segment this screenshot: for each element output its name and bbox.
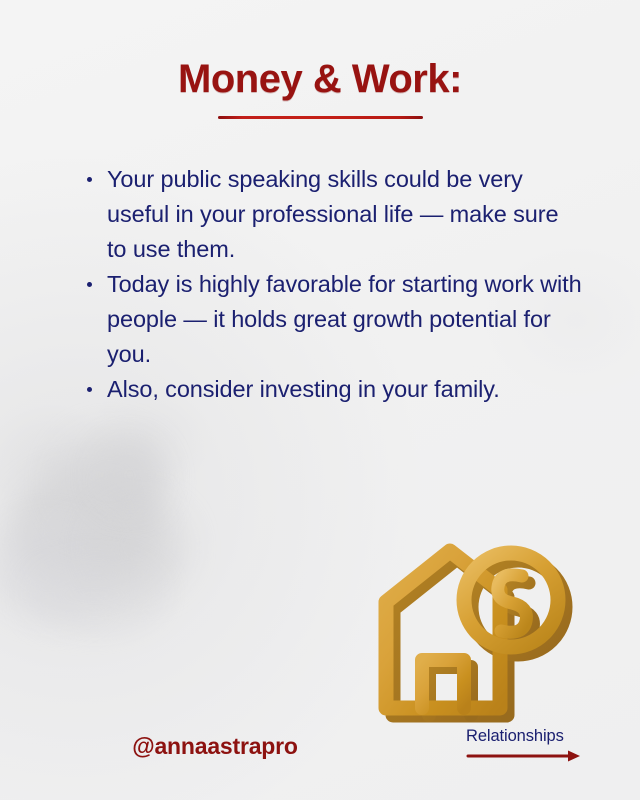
bullet-list: Your public speaking skills could be ver… (84, 162, 584, 407)
post-card: Money & Work: Your public speaking skill… (0, 0, 640, 800)
list-item: Your public speaking skills could be ver… (84, 162, 584, 267)
watercolor-smudge (55, 430, 165, 535)
title-underline-rule (218, 116, 423, 119)
watercolor-smudge (90, 500, 190, 595)
bullet-dot-icon (87, 177, 92, 182)
page-title: Money & Work: (0, 56, 640, 102)
bullet-dot-icon (87, 282, 92, 287)
next-section-indicator[interactable]: Relationships (466, 726, 586, 763)
house-with-dollar-coin-icon (372, 538, 587, 733)
watercolor-smudge (0, 520, 110, 620)
list-item: Also, consider investing in your family. (84, 372, 584, 407)
watercolor-smudge (30, 560, 160, 630)
watercolor-smudge (10, 470, 160, 590)
list-item-text: Today is highly favorable for starting w… (107, 271, 582, 367)
list-item-text: Your public speaking skills could be ver… (107, 166, 558, 262)
arrow-right-icon (466, 749, 584, 763)
list-item: Today is highly favorable for starting w… (84, 267, 584, 372)
watercolor-smudge (95, 440, 165, 510)
account-handle[interactable]: @annaastrapro (0, 733, 430, 760)
heading-block: Money & Work: (0, 56, 640, 119)
bullet-dot-icon (87, 387, 92, 392)
next-section-label: Relationships (466, 726, 586, 746)
list-item-text: Also, consider investing in your family. (107, 376, 500, 402)
